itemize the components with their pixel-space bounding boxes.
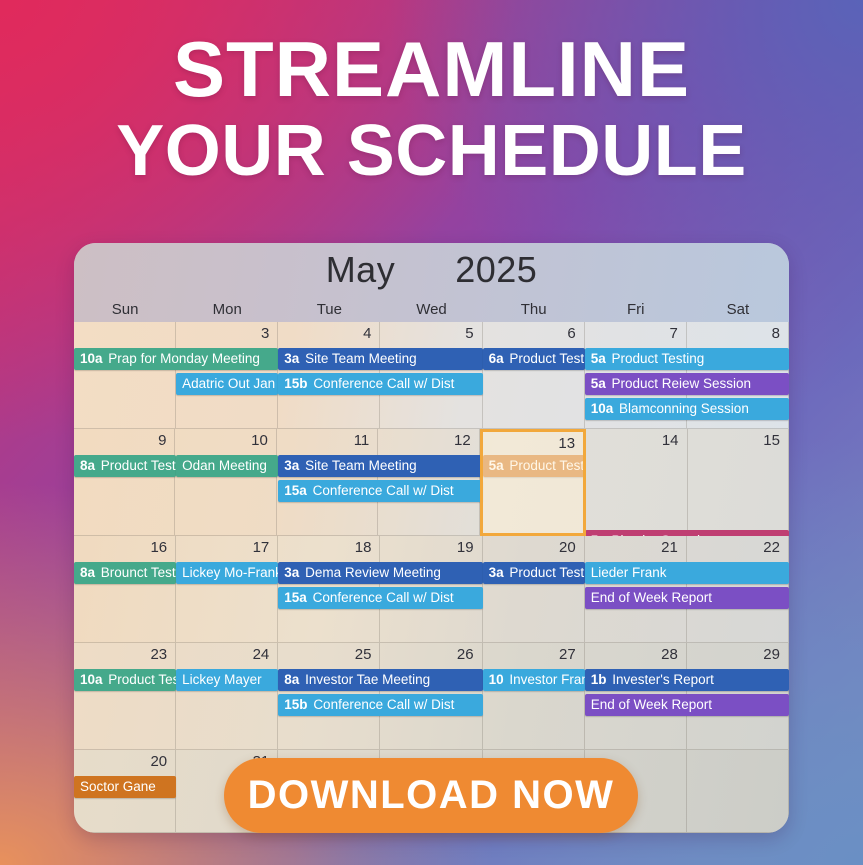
day-number: 8	[772, 325, 780, 342]
day-of-week-row: SunMonTueWedThuFriSat	[74, 301, 789, 318]
headline-line-2: YOUR SCHEDULE	[0, 117, 863, 186]
event-title: Conference Call w/ Dist	[313, 697, 454, 712]
day-number: 5	[465, 325, 473, 342]
calendar-day-cell[interactable]: 20	[483, 536, 585, 643]
day-number: 3	[261, 325, 269, 342]
event-time: 15a	[284, 483, 307, 498]
calendar-event-chip[interactable]: 3a Site Team Meeting	[278, 348, 482, 370]
day-number: 13	[558, 435, 575, 452]
event-time: 8a	[284, 672, 299, 687]
day-number: 10	[251, 432, 268, 449]
calendar-week-row: 2324252627282910a Product TestingLickey …	[74, 643, 789, 750]
calendar-day-cell[interactable]: 9	[74, 429, 175, 536]
headline-line-1: STREAMLINE	[0, 32, 863, 107]
event-time: 10a	[80, 672, 103, 687]
event-title: Blamconning Session	[619, 401, 749, 416]
event-time: 3a	[489, 565, 504, 580]
calendar-day-cell[interactable]: 24	[176, 643, 278, 750]
event-title: Lickey Mayer	[182, 672, 262, 687]
calendar-event-chip[interactable]: Lickey Mayer	[176, 669, 278, 691]
calendar-event-chip[interactable]: 10a Prap for Monday Meeting	[74, 348, 278, 370]
calendar-day-cell[interactable]	[74, 322, 176, 429]
event-title: Invester's Report	[612, 672, 714, 687]
page-title: STREAMLINE YOUR SCHEDULE	[0, 32, 863, 186]
calendar-day-cell-selected[interactable]: 13	[480, 429, 586, 536]
calendar-week-row: 34567810a Prap for Monday MeetingAdatric…	[74, 322, 789, 429]
calendar-week-row: 161718192021228a Brounct TestingLickey M…	[74, 536, 789, 643]
day-header-sat: Sat	[687, 301, 789, 318]
day-header-tue: Tue	[278, 301, 380, 318]
event-time: 10a	[591, 401, 614, 416]
day-number: 20	[150, 753, 167, 770]
calendar-event-chip[interactable]: 6a Product Testing	[483, 348, 585, 370]
calendar-event-chip[interactable]: 5a Product Testing	[585, 348, 789, 370]
event-title: Conference Call w/ Dist	[313, 483, 454, 498]
event-title: Product Reiew Session	[612, 376, 752, 391]
calendar-event-chip[interactable]: Odan Meeting	[176, 455, 278, 477]
day-number: 21	[661, 539, 678, 556]
calendar-event-chip[interactable]: 8a Brounct Testing	[74, 562, 176, 584]
day-header-fri: Fri	[585, 301, 687, 318]
event-title: End of Week Report	[591, 590, 712, 605]
event-time: 3a	[284, 565, 299, 580]
event-time: 15a	[284, 590, 307, 605]
day-number: 17	[253, 539, 270, 556]
event-time: 5a	[591, 351, 606, 366]
event-time: 3a	[284, 458, 299, 473]
calendar-event-chip[interactable]: 3a Dema Review Meeting	[278, 562, 482, 584]
day-number: 23	[150, 646, 167, 663]
event-title: Product Testing	[108, 672, 176, 687]
calendar-day-cell[interactable]: 14	[586, 429, 687, 536]
calendar-day-cell[interactable]: 6	[483, 322, 585, 429]
calendar-event-chip[interactable]: 10 Investor Fram	[483, 669, 585, 691]
calendar-month-label: May	[326, 249, 396, 290]
calendar-event-chip[interactable]: Soctor Gane	[74, 776, 176, 798]
calendar-event-chip[interactable]: 5a Product Reiew Session	[585, 373, 789, 395]
calendar-event-chip[interactable]: Lieder Frank	[585, 562, 789, 584]
day-number: 9	[158, 432, 166, 449]
calendar-event-chip[interactable]: 8a Product Testing	[74, 455, 176, 477]
event-title: Lieder Frank	[591, 565, 667, 580]
calendar-event-chip[interactable]: End of Week Report	[585, 587, 789, 609]
event-title: Conference Call w/ Dist	[313, 376, 454, 391]
calendar-week-row: 91011121314158a Product TestingOdan Meet…	[74, 429, 789, 536]
calendar-event-chip[interactable]: 15b Conference Call w/ Dist	[278, 373, 482, 395]
event-title: End of Week Report	[591, 697, 712, 712]
event-time: 3a	[284, 351, 299, 366]
calendar-day-cell[interactable]: 23	[74, 643, 176, 750]
event-title: Brounct Testing	[101, 565, 176, 580]
event-time: 8a	[80, 565, 95, 580]
event-time: 6a	[489, 351, 504, 366]
event-title: Prap for Monday Meeting	[108, 351, 260, 366]
calendar-day-cell[interactable]: 10	[175, 429, 276, 536]
calendar-event-chip[interactable]: 3a Site Team Meeting	[278, 455, 482, 477]
calendar-body: 34567810a Prap for Monday MeetingAdatric…	[74, 322, 789, 833]
day-number: 26	[457, 646, 474, 663]
day-number: 27	[559, 646, 576, 663]
day-number: 20	[559, 539, 576, 556]
day-number: 29	[763, 646, 780, 663]
calendar-event-chip[interactable]: 10a Product Testing	[74, 669, 176, 691]
day-number: 28	[661, 646, 678, 663]
calendar-event-chip[interactable]: End of Week Report	[585, 694, 789, 716]
event-title: Product Testing	[101, 458, 176, 473]
calendar-event-chip[interactable]: Lickey Mo-Frank	[176, 562, 278, 584]
day-number: 11	[354, 432, 370, 449]
calendar-year-label: 2025	[455, 249, 537, 290]
calendar-event-chip[interactable]: 1b Invester's Report	[585, 669, 789, 691]
day-number: 6	[567, 325, 575, 342]
day-number: 12	[454, 432, 471, 449]
event-time: 8a	[80, 458, 95, 473]
event-title: Product Testing	[509, 565, 584, 580]
calendar-event-chip[interactable]: 8a Investor Tae Meeting	[278, 669, 482, 691]
event-title: Product Testing	[612, 351, 705, 366]
calendar-card: May2025 SunMonTueWedThuFriSat 34567810a …	[74, 243, 789, 833]
calendar-title: May2025	[74, 249, 789, 291]
day-number: 18	[355, 539, 372, 556]
event-title: Site Team Meeting	[305, 458, 417, 473]
calendar-event-chip[interactable]: 3a Product Testing	[483, 562, 585, 584]
day-number: 16	[150, 539, 167, 556]
day-header-sun: Sun	[74, 301, 176, 318]
calendar-day-cell[interactable]: 27	[483, 643, 585, 750]
poster-root: STREAMLINE YOUR SCHEDULE May2025 SunMonT…	[0, 0, 863, 865]
event-time: 10a	[80, 351, 103, 366]
event-time: 15b	[284, 697, 307, 712]
day-number: 14	[662, 432, 679, 449]
day-header-mon: Mon	[176, 301, 278, 318]
day-number: 7	[670, 325, 678, 342]
calendar-day-cell[interactable]: 16	[74, 536, 176, 643]
day-number: 24	[253, 646, 270, 663]
event-title: Adatric Out Jan Dayi	[182, 376, 278, 391]
download-now-button[interactable]: DOWNLOAD NOW	[224, 758, 638, 833]
event-title: Soctor Gane	[80, 779, 156, 794]
event-time: 5a	[591, 376, 606, 391]
day-number: 4	[363, 325, 371, 342]
calendar-event-chip[interactable]: 15a Conference Call w/ Dist	[278, 480, 482, 502]
event-title: Lickey Mo-Frank	[182, 565, 278, 580]
calendar-event-chip[interactable]: Adatric Out Jan Dayi	[176, 373, 278, 395]
event-title: Conference Call w/ Dist	[313, 590, 454, 605]
event-title: Site Team Meeting	[305, 351, 417, 366]
event-title: Investor Tae Meeting	[305, 672, 430, 687]
event-time: 15b	[284, 376, 307, 391]
calendar-event-chip[interactable]: 10a Blamconning Session	[585, 398, 789, 420]
day-number: 22	[763, 539, 780, 556]
event-title: Dema Review Meeting	[305, 565, 441, 580]
calendar-day-cell[interactable]: 15	[688, 429, 789, 536]
event-time: 10	[489, 672, 504, 687]
calendar-event-chip[interactable]: 15a Conference Call w/ Dist	[278, 587, 482, 609]
day-number: 15	[763, 432, 780, 449]
calendar-header: May2025 SunMonTueWedThuFriSat	[74, 243, 789, 322]
event-title: Investor Fram	[509, 672, 584, 687]
calendar-day-cell[interactable]	[687, 750, 789, 833]
day-header-thu: Thu	[483, 301, 585, 318]
calendar-day-cell[interactable]: 17	[176, 536, 278, 643]
day-number: 19	[457, 539, 474, 556]
event-title: Product Testing	[509, 351, 584, 366]
day-header-wed: Wed	[380, 301, 482, 318]
event-title: Odan Meeting	[182, 458, 267, 473]
event-time: 1b	[591, 672, 607, 687]
day-number: 25	[355, 646, 372, 663]
calendar-event-chip[interactable]: 15b Conference Call w/ Dist	[278, 694, 482, 716]
